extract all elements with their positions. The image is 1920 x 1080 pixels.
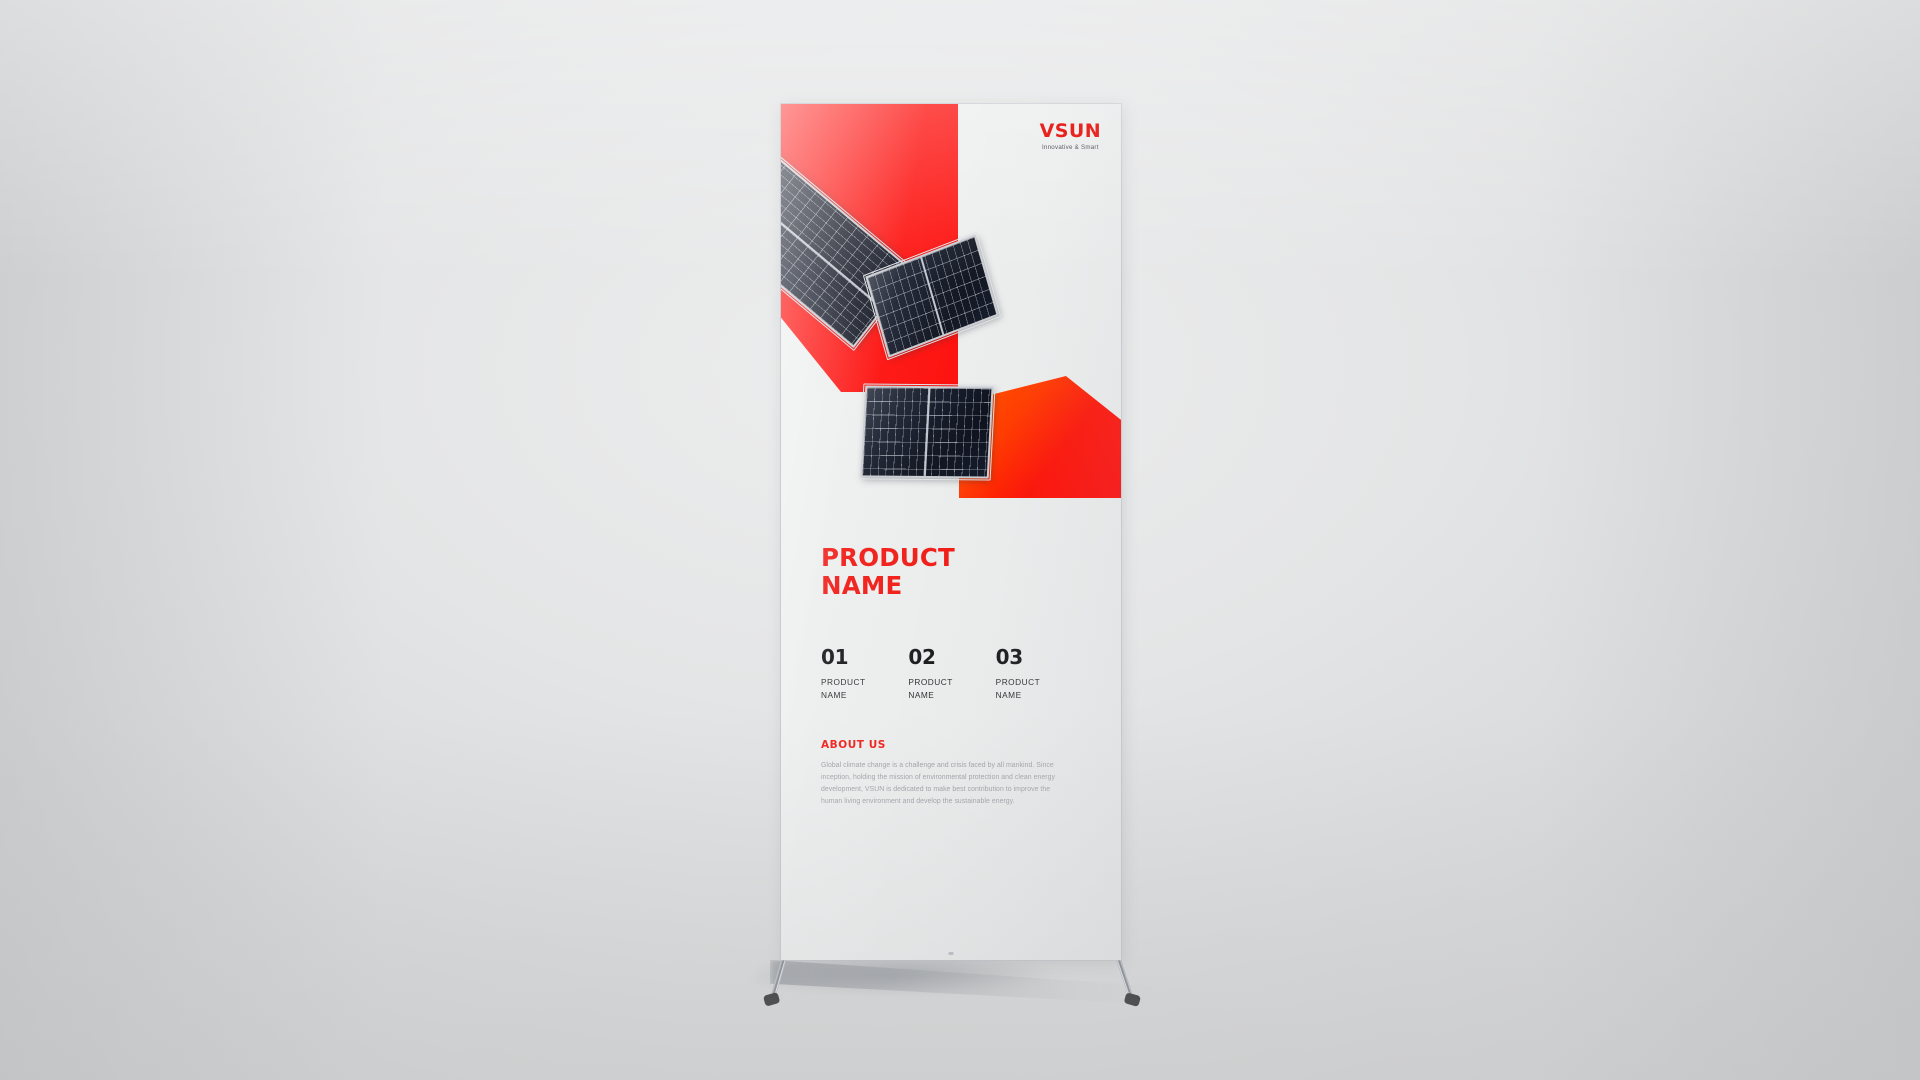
feature-number: 02 [908, 647, 995, 667]
feature-number: 03 [996, 647, 1083, 667]
banner-graphic-area [781, 104, 1121, 504]
mockup-scene: VSUN Innovative & Smart PRODUCT NAME 01 … [0, 0, 1920, 1080]
stand-leg-right [1115, 952, 1141, 1007]
feature-label: PRODUCT NAME [996, 676, 1083, 701]
feature-list: 01 PRODUCT NAME 02 PRODUCT NAME 03 PRODU… [821, 647, 1083, 701]
feature-label: PRODUCT NAME [821, 676, 908, 701]
banner-panel: VSUN Innovative & Smart PRODUCT NAME 01 … [781, 104, 1121, 960]
about-us-title: ABOUT US [821, 739, 1083, 751]
about-us-body: Global climate change is a challenge and… [821, 760, 1071, 808]
feature-number: 01 [821, 647, 908, 667]
vsun-logo: VSUN Innovative & Smart [1040, 122, 1101, 151]
feature-item: 03 PRODUCT NAME [996, 647, 1083, 701]
feature-label: PRODUCT NAME [908, 676, 995, 701]
about-us-section: ABOUT US Global climate change is a chal… [821, 739, 1083, 808]
logo-tagline: Innovative & Smart [1040, 144, 1101, 151]
logo-wordmark: VSUN [1040, 122, 1101, 141]
banner-bottom-grommet [949, 952, 954, 955]
feature-item: 02 PRODUCT NAME [908, 647, 995, 701]
feature-item: 01 PRODUCT NAME [821, 647, 908, 701]
page-title: PRODUCT NAME [821, 544, 1083, 599]
stand-leg-left [763, 952, 787, 1007]
solar-panel-bottom-image [860, 386, 993, 479]
banner-content: PRODUCT NAME 01 PRODUCT NAME 02 PRODUCT … [821, 544, 1083, 808]
